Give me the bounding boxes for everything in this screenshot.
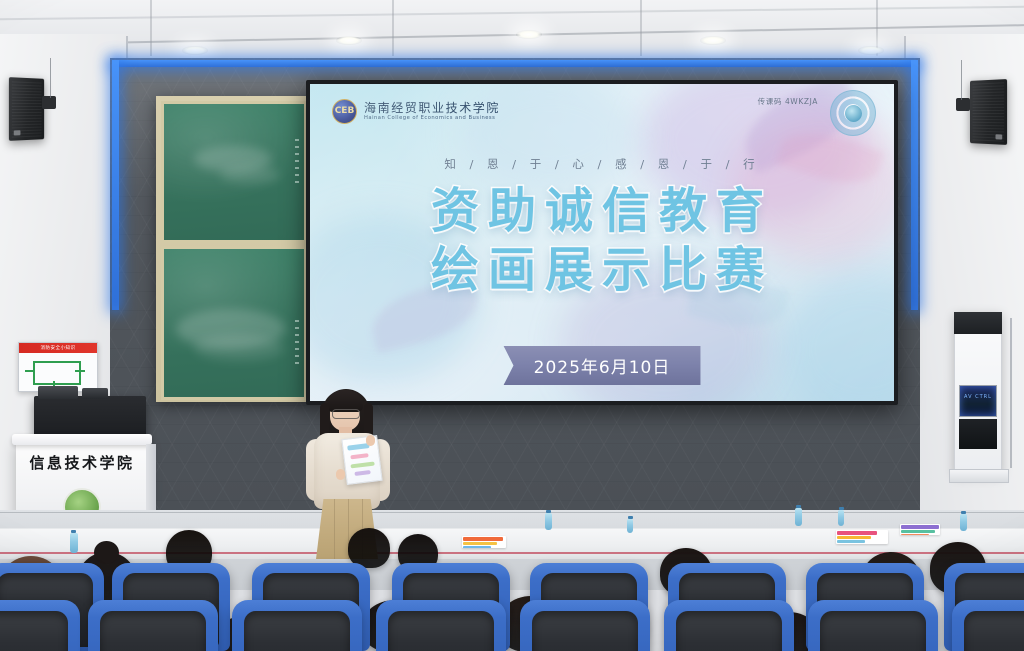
wall-speaker-right	[970, 79, 1007, 145]
chalk-smudge	[194, 335, 284, 361]
seat-cushion	[532, 611, 639, 651]
ceiling-panel-joint	[640, 0, 642, 56]
chalk-smudge	[220, 166, 280, 184]
led-accent-strip-right	[911, 60, 918, 310]
led-accent-strip-top	[112, 60, 918, 67]
seat-cushion	[820, 611, 927, 651]
school-logo-lockup: CEB 海南经贸职业技术学院 Hainan College of Economi…	[332, 99, 500, 124]
wall-av-control-panel[interactable]: AV CTRL	[954, 312, 1002, 474]
circular-seal-icon	[830, 90, 876, 136]
speaker-grille	[973, 82, 1005, 141]
audience-hair	[348, 528, 390, 568]
wall-speaker-left	[9, 77, 44, 141]
water-bottle	[795, 508, 802, 526]
floor-seam	[0, 512, 1024, 513]
slide-slogan: 知 / 恩 / 于 / 心 / 感 / 恩 / 于 / 行	[310, 156, 894, 172]
headline-line-1: 资助诚信教育	[310, 182, 894, 241]
skirt-fold	[334, 499, 335, 559]
lectern-top-surface	[12, 434, 152, 445]
presenter-hand-right	[366, 435, 375, 446]
av-cable-conduit	[1010, 318, 1012, 468]
auditorium-seat	[520, 600, 650, 651]
water-bottle	[70, 533, 78, 553]
audience-head	[348, 528, 390, 568]
ceiling-seam	[0, 24, 1024, 46]
poster-diagram-line	[75, 370, 85, 372]
water-bottle	[960, 514, 967, 531]
presented-artwork	[341, 435, 382, 485]
poster-diagram	[33, 361, 81, 385]
presenter-glasses-icon	[332, 409, 360, 419]
artwork-card	[462, 536, 506, 548]
auditorium-seat	[88, 600, 218, 651]
av-panel-header	[954, 312, 1002, 334]
artwork-color-band	[901, 525, 939, 529]
downlight-icon	[336, 36, 362, 45]
led-display-screen: CEB 海南经贸职业技术学院 Hainan College of Economi…	[310, 84, 894, 401]
artwork-color-band	[901, 534, 929, 535]
wall-safety-poster: 消防安全小知识	[18, 342, 98, 392]
artwork-stroke	[354, 470, 370, 476]
av-panel-display: AV CTRL	[959, 385, 997, 417]
poster-header: 消防安全小知识	[19, 343, 97, 353]
ceiling-panel-joint	[150, 0, 152, 56]
chalkboard-panel-upper	[161, 101, 307, 243]
auditorium-seat	[952, 600, 1024, 651]
bottle-cap	[839, 507, 844, 510]
auditorium-seat	[0, 600, 80, 651]
presenter-hand-left	[336, 469, 345, 480]
water-bottle	[545, 513, 552, 530]
av-panel-tray	[949, 469, 1009, 483]
bottle-cap	[546, 510, 551, 513]
auditorium-seat	[232, 600, 362, 651]
course-code-watermark: 传课码 4WKZJA	[758, 96, 818, 107]
seal-core	[845, 105, 862, 122]
chalkboard-tick-marks	[295, 139, 299, 185]
slide-headline: 资助诚信教育 绘画展示比赛	[310, 182, 894, 299]
speaker-cable	[961, 60, 962, 100]
school-seal-icon: CEB	[332, 99, 357, 124]
speaker-mount-bracket	[956, 98, 970, 111]
auditorium-seat	[376, 600, 506, 651]
seat-cushion	[388, 611, 495, 651]
poster-diagram-line	[25, 370, 35, 372]
chalkboard	[156, 96, 312, 402]
ceiling-panel-joint	[392, 0, 394, 56]
speaker-mount-bracket	[42, 96, 56, 109]
speaker-brand-mark	[14, 130, 21, 135]
lectern-department-label: 信息技术学院	[16, 452, 148, 473]
artwork-card	[836, 530, 888, 544]
artwork-stroke	[350, 453, 368, 459]
console-monitor	[38, 386, 78, 399]
downlight-icon	[516, 30, 542, 39]
speaker-brand-mark	[996, 134, 1003, 139]
poster-header-text: 消防安全小知识	[41, 345, 76, 351]
artwork-color-band	[463, 546, 491, 548]
table-edge-trim	[0, 552, 1024, 554]
artwork-color-band	[463, 537, 503, 541]
artwork-color-band	[837, 540, 865, 543]
artwork-color-band	[901, 530, 935, 533]
school-name-cn: 海南经贸职业技术学院	[364, 102, 500, 115]
av-panel-equipment-slot	[959, 419, 997, 449]
water-bottle	[838, 510, 844, 526]
downlight-icon	[858, 46, 884, 55]
led-accent-strip-left	[112, 60, 119, 310]
bottle-cap	[628, 516, 633, 519]
console-monitor-secondary	[82, 388, 108, 399]
artwork-stroke	[350, 462, 374, 469]
speaker-grille	[12, 80, 42, 137]
school-name-en: Hainan College of Economics and Business	[364, 116, 500, 121]
screenshot-root: CEB 海南经贸职业技术学院 Hainan College of Economi…	[0, 0, 1024, 651]
auditorium-seat	[664, 600, 794, 651]
seat-cushion	[100, 611, 207, 651]
bottle-cap	[796, 505, 801, 508]
speaker-cable	[50, 58, 51, 98]
ceiling-seam	[0, 6, 1024, 21]
downlight-icon	[700, 36, 726, 45]
seat-cushion	[676, 611, 783, 651]
av-panel-display-text: AV CTRL	[964, 394, 992, 400]
auditorium-seat	[808, 600, 938, 651]
artwork-color-band	[837, 531, 877, 535]
artwork-card	[900, 524, 940, 535]
artwork-color-band	[463, 542, 497, 545]
chalkboard-panel-lower	[161, 246, 307, 400]
date-ribbon: 2025年6月10日	[504, 346, 701, 385]
seat-cushion	[244, 611, 351, 651]
chalkboard-tick-marks	[295, 320, 299, 364]
seat-cushion	[0, 611, 68, 651]
downlight-icon	[182, 46, 208, 55]
led-display-bezel: CEB 海南经贸职业技术学院 Hainan College of Economi…	[306, 80, 898, 405]
bottle-cap	[961, 511, 966, 514]
artwork-color-band	[837, 536, 871, 539]
seat-cushion	[964, 611, 1024, 651]
bottle-cap	[71, 530, 76, 533]
audience-hair-bun	[94, 541, 118, 564]
water-bottle	[627, 519, 633, 533]
headline-line-2: 绘画展示比赛	[310, 241, 894, 300]
school-name-block: 海南经贸职业技术学院 Hainan College of Economics a…	[364, 102, 500, 121]
